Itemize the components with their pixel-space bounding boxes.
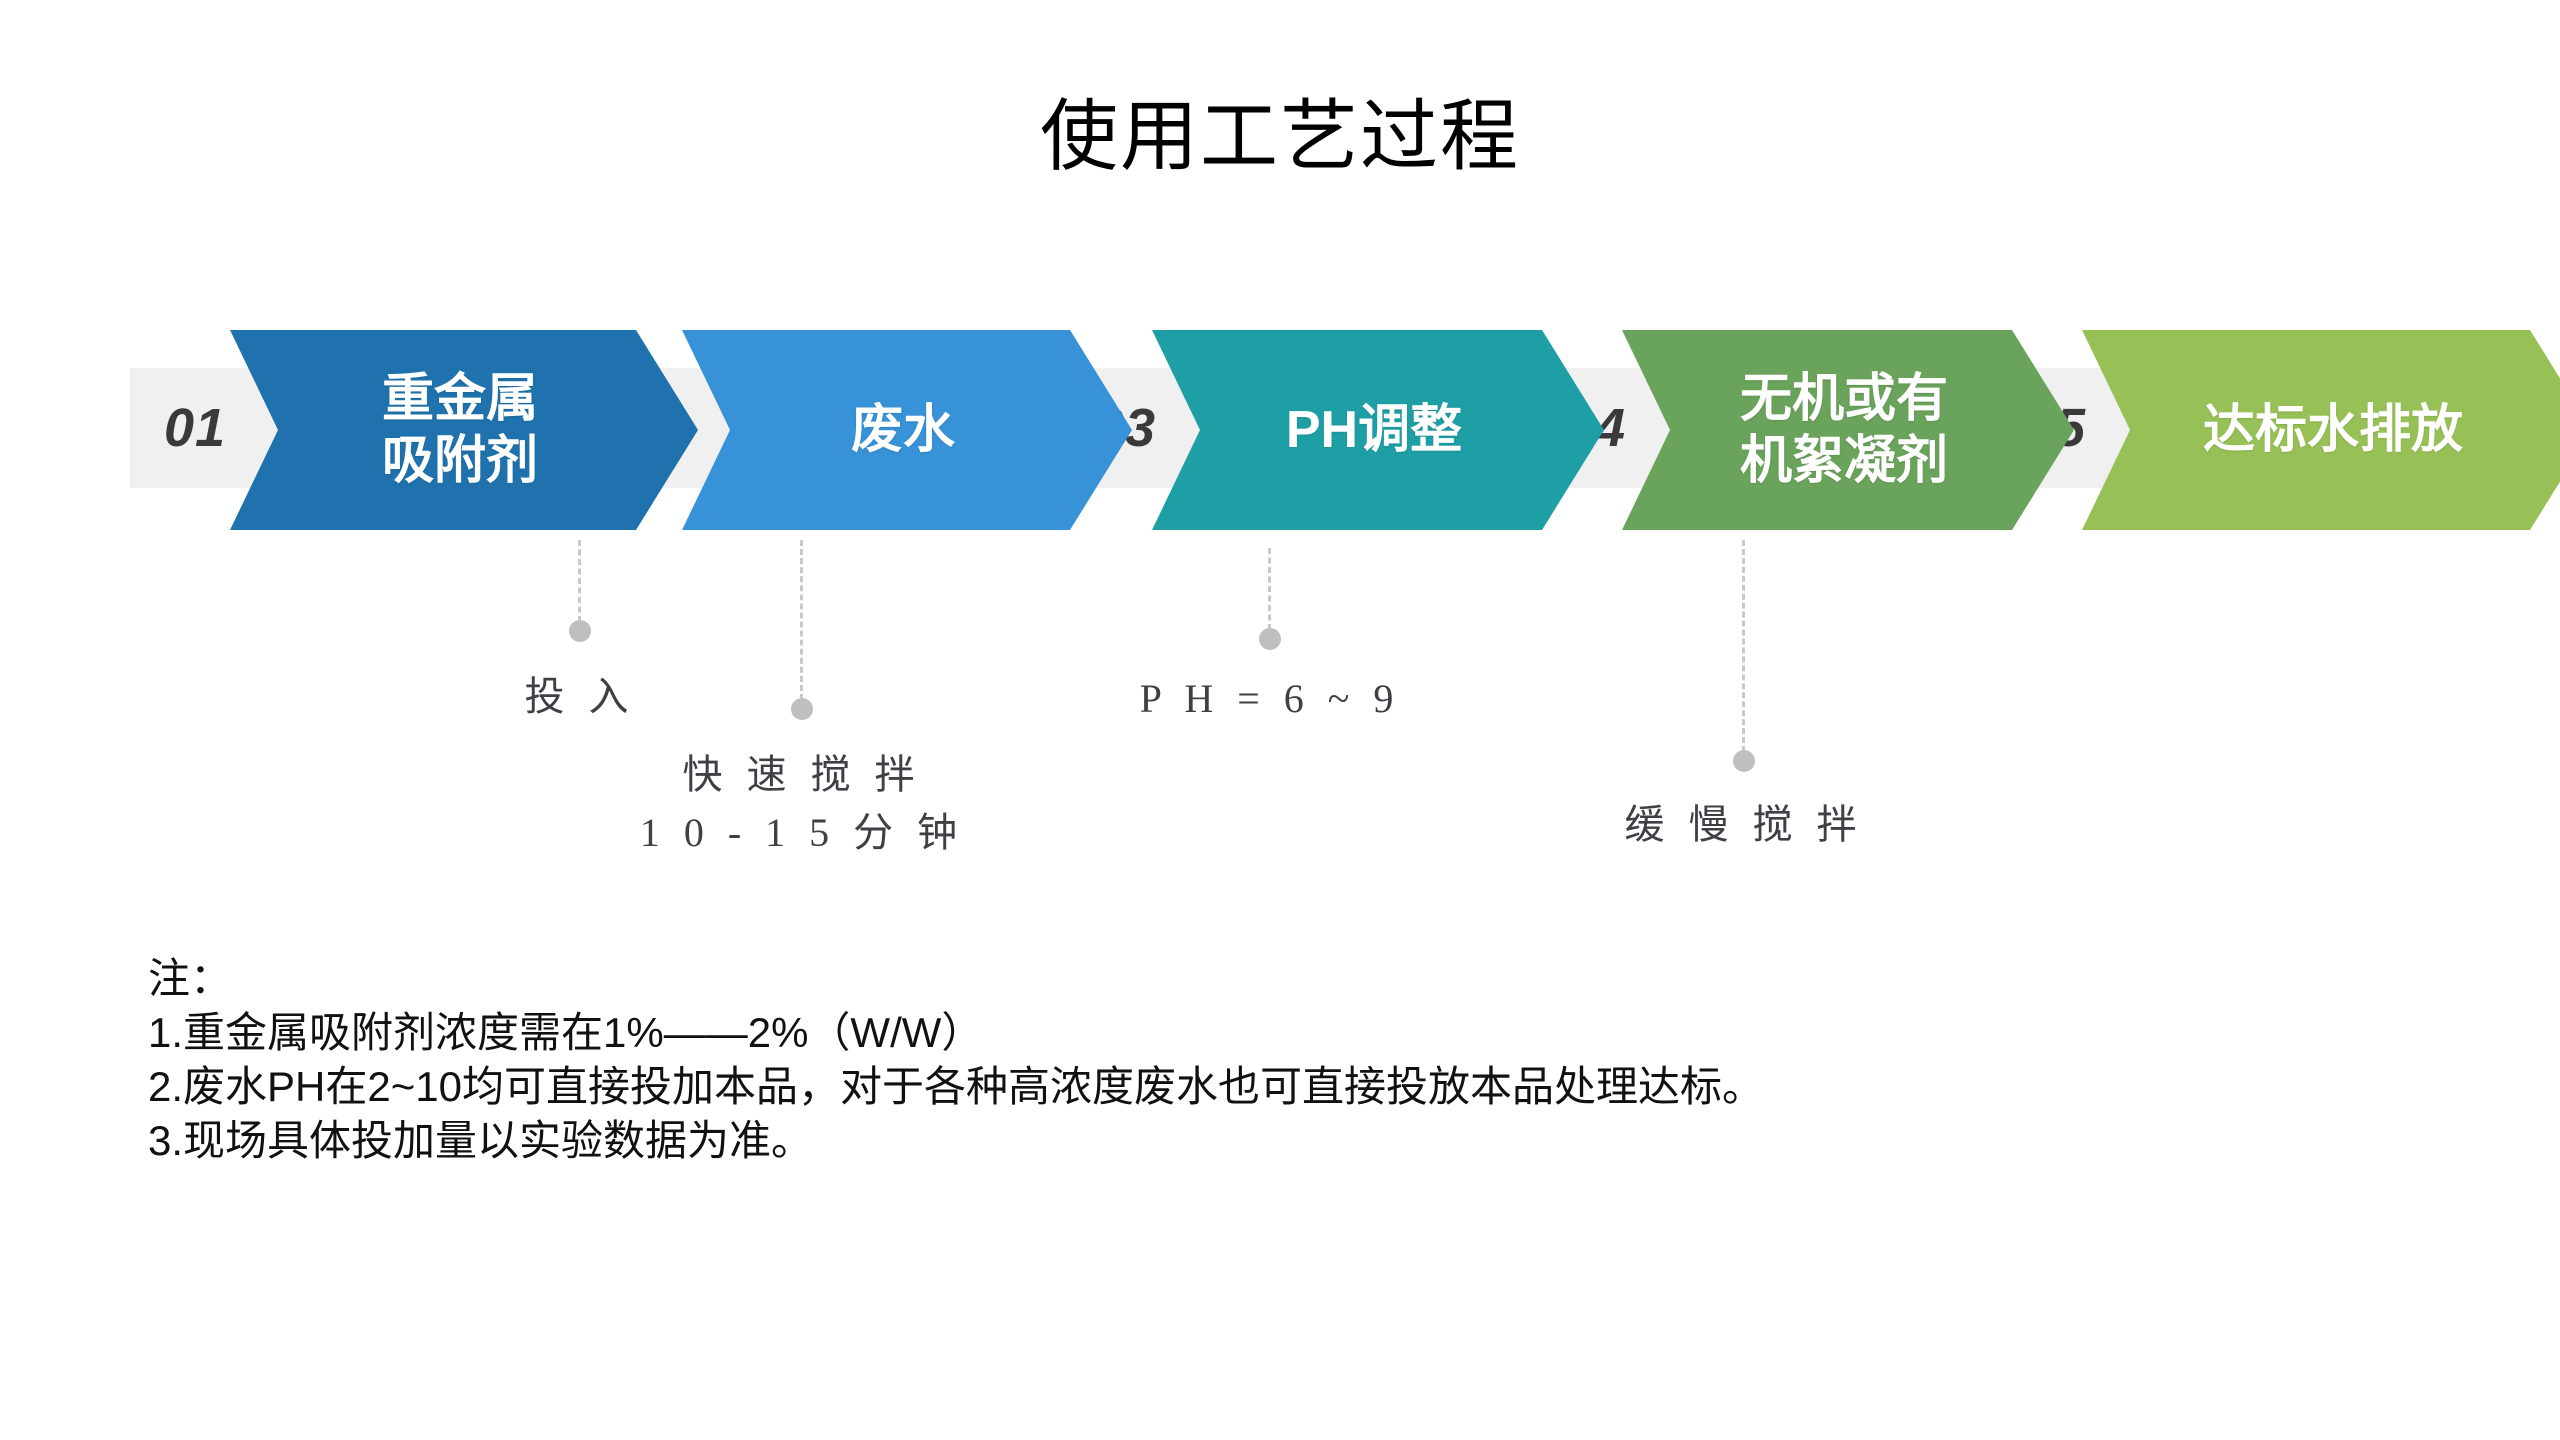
step-body-04[interactable]: 无机或有 机絮凝剂 — [1622, 330, 2074, 530]
callout-text-4: 缓 慢 搅 拌 — [1625, 796, 1864, 854]
step-body-05[interactable]: 达标水排放 — [2082, 330, 2560, 530]
notes-line-2: 2.废水PH在2~10均可直接投加本品，对于各种高浓度废水也可直接投放本品处理达… — [148, 1060, 2348, 1114]
step-number-label-01: 01 — [164, 397, 226, 459]
step-label-04: 无机或有 机絮凝剂 — [1714, 368, 1982, 492]
notes-block: 注： 1.重金属吸附剂浓度需在1%——2%（W/W） 2.废水PH在2~10均可… — [148, 952, 2348, 1168]
step-body-03[interactable]: PH调整 — [1152, 330, 1604, 530]
step-label-01: 重金属 吸附剂 — [356, 368, 572, 492]
callout-leader-line-2 — [800, 540, 803, 700]
process-flow: 01 重金属 吸附剂 02 废水 03 PH调整 04 无机或有 机絮凝剂 — [0, 330, 2560, 540]
callout-dot-4 — [1733, 750, 1755, 772]
callout-dot-3 — [1259, 628, 1281, 650]
callout-text-1: 投 入 — [525, 668, 636, 726]
callout-leader-line-3 — [1268, 548, 1271, 630]
callout-leader-line-4 — [1742, 540, 1745, 752]
notes-line-1: 1.重金属吸附剂浓度需在1%——2%（W/W） — [148, 1006, 2348, 1060]
callout-text-2: 快 速 搅 拌 1 0 - 1 5 分 钟 — [640, 746, 964, 862]
step-label-02: 废水 — [825, 399, 989, 461]
step-label-03: PH调整 — [1260, 399, 1496, 461]
callout-dot-1 — [569, 620, 591, 642]
callout-dot-2 — [791, 698, 813, 720]
callout-text-3: P H = 6 ~ 9 — [1140, 670, 1401, 728]
callout-slow-stir: 缓 慢 搅 拌 — [1742, 540, 2162, 790]
step-label-05: 达标水排放 — [2177, 399, 2497, 461]
notes-line-3: 3.现场具体投加量以实验数据为准。 — [148, 1114, 2348, 1168]
page-title: 使用工艺过程 — [0, 88, 2560, 184]
callout-ph-range: P H = 6 ~ 9 — [1268, 548, 1688, 708]
notes-heading: 注： — [148, 952, 2348, 1006]
callout-leader-line-1 — [578, 540, 581, 622]
step-body-01[interactable]: 重金属 吸附剂 — [230, 330, 698, 530]
step-body-02[interactable]: 废水 — [682, 330, 1132, 530]
